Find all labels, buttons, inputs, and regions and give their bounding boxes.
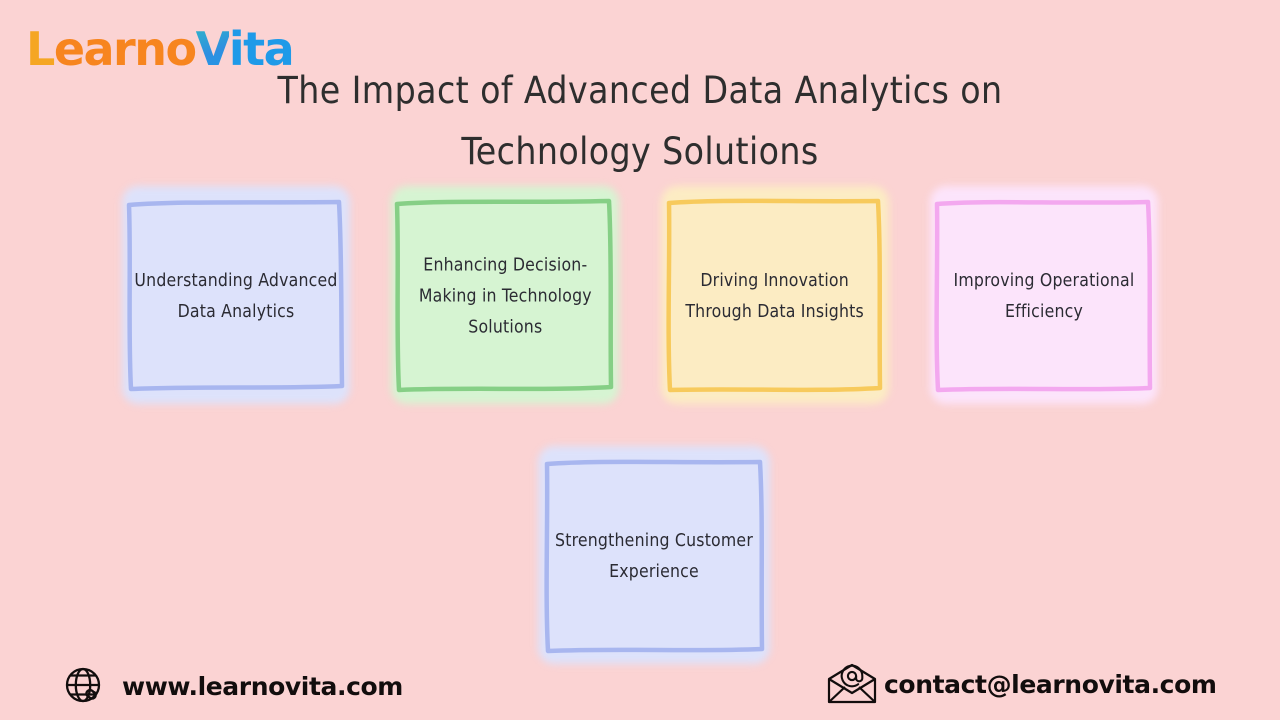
footer-website[interactable]: www.learnovita.com <box>62 664 403 708</box>
card-label: Improving Operational Efficiency <box>926 266 1162 328</box>
logo-letter-v: V <box>196 22 229 76</box>
card-driving-innovation-through-data-insights[interactable]: Driving Innovation Through Data Insights <box>657 186 893 408</box>
envelope-at-icon <box>824 662 868 706</box>
card-improving-operational-efficiency[interactable]: Improving Operational Efficiency <box>926 186 1162 408</box>
card-row-bottom: Strengthening Customer Experience <box>534 446 774 668</box>
page-title-line-1: The Impact of Advanced Data Analytics on <box>260 60 1020 121</box>
card-understanding-advanced-data-analytics[interactable]: Understanding Advanced Data Analytics <box>118 186 354 408</box>
page-title: The Impact of Advanced Data Analytics on… <box>260 60 1020 182</box>
card-strengthening-customer-experience[interactable]: Strengthening Customer Experience <box>534 446 774 668</box>
email-address-label: contact@learnovita.com <box>884 670 1217 699</box>
card-label: Strengthening Customer Experience <box>534 526 774 588</box>
logo-text-earno: earno <box>54 22 196 76</box>
card-label: Enhancing Decision-Making in Technology … <box>387 251 623 344</box>
card-label: Driving Innovation Through Data Insights <box>657 266 893 328</box>
logo-letter-l: L <box>26 22 54 76</box>
card-label: Understanding Advanced Data Analytics <box>118 266 354 328</box>
card-enhancing-decision-making[interactable]: Enhancing Decision-Making in Technology … <box>387 186 623 408</box>
website-url-label: www.learnovita.com <box>122 672 403 701</box>
globe-link-icon <box>62 664 106 708</box>
brand-logo: LearnoVita <box>26 26 293 72</box>
footer-email[interactable]: contact@learnovita.com <box>824 662 1217 706</box>
card-row-top: Understanding Advanced Data Analytics En… <box>118 186 1162 408</box>
page-title-line-2: Technology Solutions <box>260 121 1020 182</box>
